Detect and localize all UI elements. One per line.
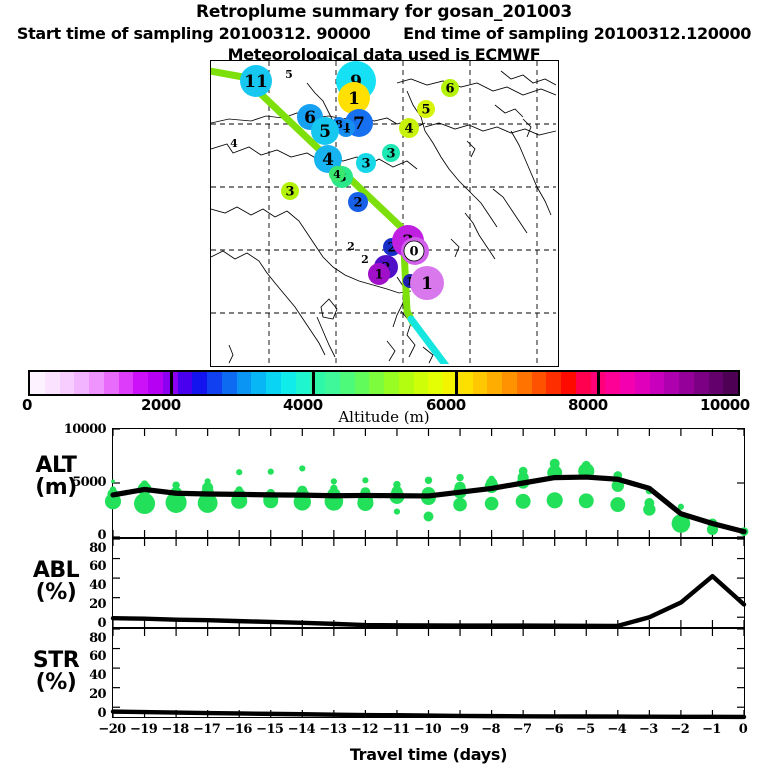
xtick--2: −2 <box>663 722 697 737</box>
str-ytick-marks <box>113 629 744 707</box>
abl-ytick-60: 60 <box>48 559 106 574</box>
alt-scatter-dot <box>424 512 434 522</box>
marker-label: 4 <box>404 122 413 137</box>
sampling-time-row: Start time of sampling 20100312. 90000 E… <box>0 24 768 43</box>
str-panel[interactable] <box>112 628 745 718</box>
plume-marker-2-19[interactable]: 2 <box>348 192 368 212</box>
marker-label: 1 <box>348 89 360 109</box>
xtick--12: −12 <box>347 722 381 737</box>
colorbar-swatch-39 <box>605 372 620 394</box>
plume-marker-1-27[interactable]: 1 <box>368 263 390 285</box>
plume-marker-5-11[interactable]: 5 <box>311 117 339 145</box>
marker-label: 0 <box>409 245 418 260</box>
colorbar-separator <box>455 370 458 396</box>
colorbar-swatch-43 <box>664 372 679 394</box>
colorbar-swatch-46 <box>709 372 724 394</box>
colorbar-separator <box>312 370 315 396</box>
alt-scatter-dot <box>362 477 368 483</box>
colorbar-swatch-6 <box>119 372 134 394</box>
plume-marker-6-4[interactable]: 6 <box>441 79 459 97</box>
xtick--10: −10 <box>411 722 445 737</box>
marker-label: 2 <box>353 196 362 211</box>
marker-label: 5 <box>285 68 293 81</box>
alt-scatter-dot <box>579 493 594 508</box>
colorbar-swatch-17 <box>281 372 296 394</box>
marker-label: 11 <box>244 72 268 92</box>
plume-marker-1-3[interactable]: 1 <box>338 82 370 114</box>
plume-marker-3-18[interactable]: 3 <box>281 182 299 200</box>
marker-label: 2 <box>361 253 369 266</box>
colorbar-caption: Altitude (m) <box>0 408 768 426</box>
str-ytick-80: 80 <box>48 631 106 646</box>
str-plot <box>113 629 744 717</box>
colorbar-swatch-42 <box>650 372 665 394</box>
coastline-layer <box>211 71 556 363</box>
xtick--3: −3 <box>631 722 665 737</box>
colorbar-swatch-21 <box>340 372 355 394</box>
alt-scatter-dot <box>425 477 432 484</box>
colorbar-swatch-24 <box>384 372 399 394</box>
xtick--14: −14 <box>284 722 318 737</box>
colorbar-swatch-4 <box>89 372 104 394</box>
colorbar-swatch-22 <box>355 372 370 394</box>
alt-scatter-dot <box>394 509 400 515</box>
abl-panel[interactable] <box>112 538 745 628</box>
xtick--6: −6 <box>537 722 571 737</box>
xtick--8: −8 <box>474 722 508 737</box>
xtick--13: −13 <box>316 722 350 737</box>
colorbar-swatch-20 <box>325 372 340 394</box>
alt-scatter-dot <box>643 503 655 515</box>
alt-scatter-dot <box>516 494 531 509</box>
colorbar-swatch-37 <box>576 372 591 394</box>
marker-label: 3 <box>285 185 294 200</box>
alt-scatter-dot <box>236 469 242 475</box>
abl-ytick-40: 40 <box>48 578 106 593</box>
plume-marker-4-17[interactable]: 4 <box>329 166 345 182</box>
plume-marker-4-12[interactable]: 4 <box>230 137 238 150</box>
abl-ytick-marks <box>113 539 744 617</box>
colorbar-swatch-15 <box>251 372 266 394</box>
colorbar-swatch-7 <box>133 372 148 394</box>
colorbar-swatch-14 <box>237 372 252 394</box>
xtick--5: −5 <box>568 722 602 737</box>
colorbar-gradient <box>28 370 740 396</box>
colorbar-swatch-23 <box>369 372 384 394</box>
xaxis-title: Travel time (days) <box>112 745 745 764</box>
plume-marker-2-20[interactable]: 2 <box>347 240 355 253</box>
plume-marker-11-0[interactable]: 11 <box>240 65 272 97</box>
xtick--7: −7 <box>505 722 539 737</box>
alt-ytick-10000: 10000 <box>48 422 106 437</box>
marker-label: 6 <box>445 82 454 97</box>
colorbar-swatch-33 <box>517 372 532 394</box>
alt-scatter-dot <box>453 498 467 512</box>
colorbar-swatch-25 <box>399 372 414 394</box>
cyan-track <box>411 319 541 364</box>
marker-label: 1 <box>374 268 383 283</box>
marker-label: 4 <box>333 168 341 181</box>
colorbar-swatch-12 <box>207 372 222 394</box>
colorbar-swatch-29 <box>458 372 473 394</box>
colorbar-swatch-18 <box>296 372 311 394</box>
plume-marker-5-1[interactable]: 5 <box>285 68 293 81</box>
colorbar-swatch-3 <box>74 372 89 394</box>
abl-ytick-20: 20 <box>48 597 106 612</box>
colorbar-swatch-34 <box>532 372 547 394</box>
str-ytick-20: 20 <box>48 687 106 702</box>
plume-marker-2-21[interactable]: 2 <box>361 253 369 266</box>
alt-scatter-dot <box>485 497 499 511</box>
altitude-colorbar: 0 2000 4000 6000 8000 10000 <box>28 370 740 396</box>
colorbar-swatch-47 <box>723 372 738 394</box>
colorbar-swatch-11 <box>192 372 207 394</box>
colorbar-swatch-5 <box>104 372 119 394</box>
colorbar-swatch-16 <box>266 372 281 394</box>
xtick--19: −19 <box>127 722 161 737</box>
start-time-label: Start time of sampling 20100312. 90000 <box>17 24 371 43</box>
str-ytick-0: 0 <box>48 706 106 721</box>
colorbar-separator <box>170 370 173 396</box>
colorbar-swatch-30 <box>473 372 488 394</box>
colorbar-swatch-31 <box>487 372 502 394</box>
page-title: Retroplume summary for gosan_201003 <box>0 2 768 22</box>
abl-ytick-80: 80 <box>48 541 106 556</box>
xtick--1: −1 <box>694 722 728 737</box>
plume-marker-1-29[interactable]: 1 <box>410 266 444 300</box>
plume-marker-5-5[interactable]: 5 <box>417 100 435 118</box>
colorbar-swatch-35 <box>546 372 561 394</box>
xtick--9: −9 <box>442 722 476 737</box>
alt-scatter-dot <box>610 497 625 512</box>
marker-label: 5 <box>421 103 430 118</box>
colorbar-swatch-26 <box>414 372 429 394</box>
colorbar-swatch-44 <box>679 372 694 394</box>
abl-plot <box>113 539 744 627</box>
colorbar-swatch-2 <box>60 372 75 394</box>
plume-marker-3-15[interactable]: 3 <box>356 153 376 173</box>
alt-scatter-dot <box>268 469 274 475</box>
xtick--15: −15 <box>253 722 287 737</box>
xtick-0: 0 <box>726 722 760 737</box>
colorbar-swatch-32 <box>502 372 517 394</box>
alt-panel[interactable] <box>112 428 745 538</box>
colorbar-swatch-13 <box>222 372 237 394</box>
plume-marker-0-25[interactable]: 0 <box>404 241 424 261</box>
marker-label: 2 <box>347 240 355 253</box>
colorbar-swatch-40 <box>620 372 635 394</box>
colorbar-separator <box>597 370 600 396</box>
marker-label: 5 <box>319 122 331 142</box>
plume-marker-4-7[interactable]: 4 <box>399 118 419 138</box>
colorbar-swatch-27 <box>428 372 443 394</box>
marker-label: 7 <box>353 114 365 134</box>
retroplume-map[interactable]: 1159165647485434334322223102111 <box>210 60 559 367</box>
alt-ytick-5000: 5000 <box>48 475 106 490</box>
alt-scatter-dot <box>111 480 115 484</box>
colorbar-swatch-1 <box>45 372 60 394</box>
end-time-label: End time of sampling 20100312.120000 <box>403 24 751 43</box>
xtick--20: −20 <box>95 722 129 737</box>
alt-scatter-dot <box>134 493 155 514</box>
alt-scatter-dot <box>331 478 337 484</box>
plume-marker-3-13[interactable]: 3 <box>382 144 400 162</box>
alt-scatter-dot <box>299 465 305 471</box>
str-tick-layer <box>113 629 744 717</box>
alt-scatter-dot <box>456 474 463 481</box>
marker-label: 3 <box>386 147 395 162</box>
xtick--11: −11 <box>379 722 413 737</box>
alt-plot <box>113 429 744 537</box>
abl-tick-layer <box>113 539 744 627</box>
xtick--4: −4 <box>600 722 634 737</box>
xtick--17: −17 <box>190 722 224 737</box>
alt-scatter-dot <box>547 492 563 508</box>
colorbar-swatch-36 <box>561 372 576 394</box>
colorbar-swatch-41 <box>635 372 650 394</box>
xtick--18: −18 <box>158 722 192 737</box>
colorbar-swatch-0 <box>30 372 45 394</box>
abl-ytick-0: 0 <box>48 616 106 631</box>
marker-label: 3 <box>361 157 370 172</box>
trajectory-layer <box>211 69 556 364</box>
marker-label: 1 <box>421 274 433 294</box>
str-ytick-60: 60 <box>48 649 106 664</box>
colorbar-swatch-8 <box>148 372 163 394</box>
colorbar-swatch-45 <box>694 372 709 394</box>
str-ytick-40: 40 <box>48 668 106 683</box>
abl-series-line <box>113 576 744 626</box>
map-canvas: 1159165647485434334322223102111 <box>211 61 556 364</box>
marker-label: 4 <box>230 137 238 150</box>
colorbar-swatch-10 <box>178 372 193 394</box>
xtick--16: −16 <box>221 722 255 737</box>
